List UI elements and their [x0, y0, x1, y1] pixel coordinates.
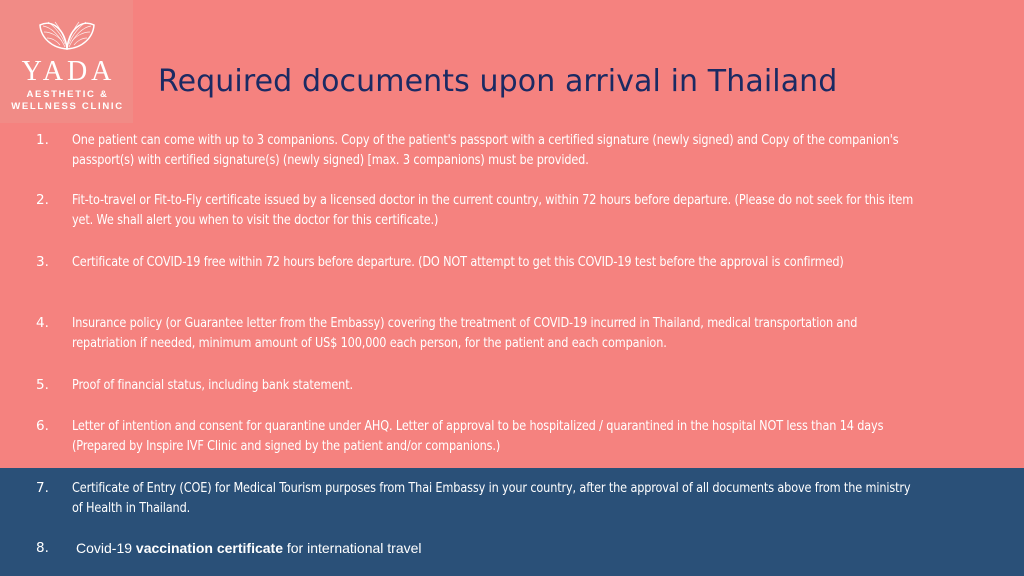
- list-item-text-inner: Letter of intention and consent for quar…: [72, 416, 922, 456]
- list-item-text: Proof of financial status, including ban…: [72, 375, 986, 395]
- list-item-text: Letter of intention and consent for quar…: [72, 416, 986, 456]
- list-item-number: 2.: [36, 190, 72, 210]
- list-item-number: 4.: [36, 313, 72, 333]
- list-item-number: 1.: [36, 130, 72, 150]
- list-item-text-inner: Insurance policy (or Guarantee letter fr…: [72, 313, 922, 353]
- list-item-text: Certificate of Entry (COE) for Medical T…: [72, 478, 986, 518]
- list-item-text-emphasis: vaccination certificate: [136, 540, 283, 556]
- list-item-number: 6.: [36, 416, 72, 436]
- list-item-text: Fit-to-travel or Fit-to-Fly certificate …: [72, 190, 986, 230]
- list-item-text-inner: Proof of financial status, including ban…: [72, 375, 353, 395]
- list-item-text-inner: Certificate of COVID-19 free within 72 h…: [72, 252, 844, 272]
- slide-canvas: YADA AESTHETIC & WELLNESS CLINIC Require…: [0, 0, 1024, 576]
- list-item-text: Certificate of COVID-19 free within 72 h…: [72, 252, 986, 272]
- list-item-number: 8.: [36, 538, 72, 558]
- list-item-number: 5.: [36, 375, 72, 395]
- list-item: 8. Covid-19 vaccination certificate for …: [36, 538, 986, 558]
- list-item-text: Covid-19 vaccination certificate for int…: [72, 538, 986, 558]
- list-item-number: 7.: [36, 478, 72, 498]
- list-item-text-suffix: for international travel: [283, 540, 422, 556]
- list-item-text: One patient can come with up to 3 compan…: [72, 130, 986, 170]
- requirements-list: 1. One patient can come with up to 3 com…: [0, 0, 1024, 576]
- list-item: 2. Fit-to-travel or Fit-to-Fly certifica…: [36, 190, 986, 230]
- list-item-text-inner: One patient can come with up to 3 compan…: [72, 130, 922, 170]
- list-item: 5. Proof of financial status, including …: [36, 375, 986, 395]
- list-item-text: Insurance policy (or Guarantee letter fr…: [72, 313, 986, 353]
- list-item-text-prefix: Covid-19: [76, 540, 136, 556]
- list-item: 3. Certificate of COVID-19 free within 7…: [36, 252, 986, 272]
- list-item-text-inner: Certificate of Entry (COE) for Medical T…: [72, 478, 922, 518]
- list-item: 7. Certificate of Entry (COE) for Medica…: [36, 478, 986, 518]
- list-item-number: 3.: [36, 252, 72, 272]
- list-item-text-inner: Fit-to-travel or Fit-to-Fly certificate …: [72, 190, 922, 230]
- list-item-text-inner: Covid-19 vaccination certificate for int…: [76, 538, 422, 558]
- list-item: 1. One patient can come with up to 3 com…: [36, 130, 986, 170]
- list-item: 4. Insurance policy (or Guarantee letter…: [36, 313, 986, 353]
- list-item: 6. Letter of intention and consent for q…: [36, 416, 986, 456]
